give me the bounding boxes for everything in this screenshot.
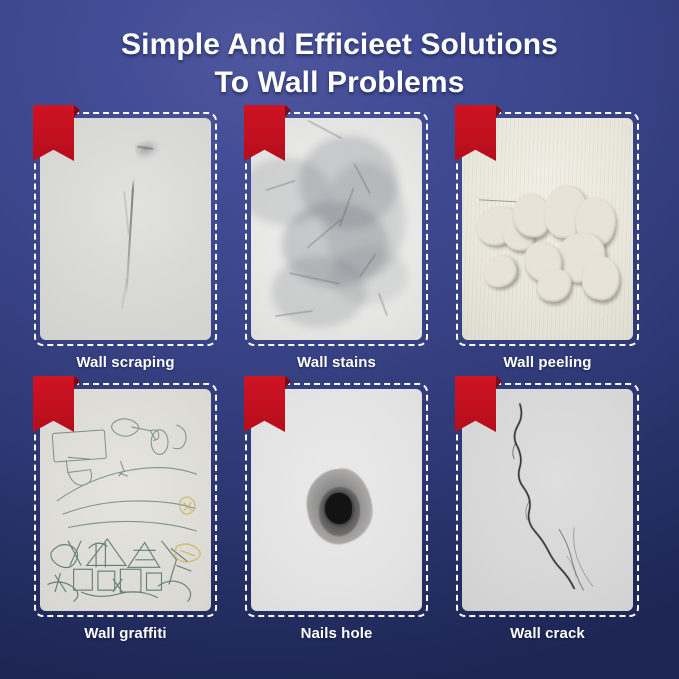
page-title: Simple And Efficieet Solutions To Wall P… (0, 26, 679, 102)
badge-fold-shadow (285, 376, 291, 388)
card-caption: Wall stains (245, 354, 428, 371)
photo-frame: 06 (456, 383, 639, 617)
page-title-line-1: Simple And Efficieet Solutions (0, 26, 679, 64)
problem-card-wall-stains[interactable]: 02 Wall stains (245, 112, 428, 371)
stain-streak (308, 120, 342, 139)
card-caption: Wall crack (456, 625, 639, 642)
page-title-line-2: To Wall Problems (0, 64, 679, 102)
photo-frame: 04 (34, 383, 217, 617)
badge-fold-shadow (74, 376, 80, 388)
badge-fold-shadow (496, 376, 502, 388)
photo-frame: 02 (245, 112, 428, 346)
scrape-chip-mark (134, 137, 164, 163)
card-caption: Nails hole (245, 625, 428, 642)
problem-card-grid: 01 Wall scraping (34, 112, 645, 642)
badge-fold-shadow (74, 105, 80, 117)
photo-frame: 05 (245, 383, 428, 617)
hole-core (325, 493, 352, 524)
wall-problems-poster: Simple And Efficieet Solutions To Wall P… (0, 0, 679, 679)
photo-frame: 01 (34, 112, 217, 346)
problem-card-wall-peeling[interactable]: 03 Wall peeling (456, 112, 639, 371)
stain-blotch (330, 247, 409, 305)
card-caption: Wall scraping (34, 354, 217, 371)
problem-card-wall-crack[interactable]: 06 Wall crack (456, 383, 639, 642)
problem-card-nails-hole[interactable]: 05 Nails hole (245, 383, 428, 642)
problem-card-wall-graffiti[interactable]: 04 Wall graffiti (34, 383, 217, 642)
photo-frame: 03 (456, 112, 639, 346)
badge-fold-shadow (285, 105, 291, 117)
card-caption: Wall graffiti (34, 625, 217, 642)
problem-card-wall-scraping[interactable]: 01 Wall scraping (34, 112, 217, 371)
card-caption: Wall peeling (456, 354, 639, 371)
paint-flake (479, 252, 520, 291)
badge-fold-shadow (496, 105, 502, 117)
scrape-line-branch (123, 191, 129, 235)
